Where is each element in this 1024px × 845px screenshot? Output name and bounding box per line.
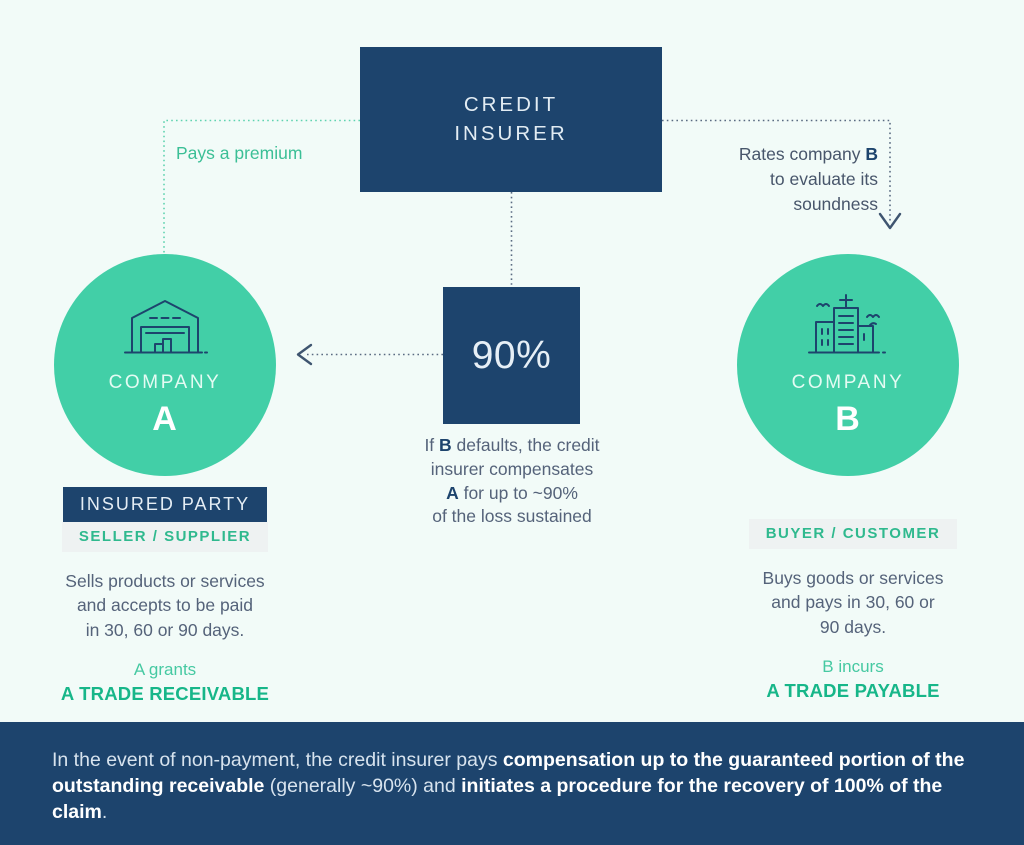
arrowhead-left	[298, 345, 311, 364]
summary-banner-text: In the event of non-payment, the credit …	[52, 748, 972, 826]
rates-line-1: Rates company B	[688, 142, 878, 167]
rates-line-3: soundness	[688, 192, 878, 217]
trade-receivable-label: A TRADE RECEIVABLE	[0, 683, 330, 705]
company-b-desc-line-2: and pays in 30, 60 or	[688, 590, 1018, 614]
caption-line-1: If B defaults, the credit	[351, 434, 673, 458]
insurer-line-2: INSURER	[454, 120, 567, 148]
company-b-desc-line-3: 90 days.	[688, 615, 1018, 639]
rates-company-label: Rates company B to evaluate its soundnes…	[688, 142, 878, 217]
credit-insurer-title: CREDIT INSURER	[454, 91, 567, 148]
company-a-desc-line-1: Sells products or services	[0, 569, 330, 593]
company-a-description: Sells products or services and accepts t…	[0, 569, 330, 642]
city-buildings-icon	[803, 292, 893, 358]
company-a-letter: A	[152, 400, 178, 439]
company-a-desc-line-3: in 30, 60 or 90 days.	[0, 618, 330, 642]
company-a-details: INSURED PARTY SELLER / SUPPLIER Sells pr…	[0, 487, 330, 705]
banner-seg-5: .	[102, 801, 107, 823]
coverage-percent-box: 90%	[443, 287, 580, 424]
pays-premium-label: Pays a premium	[176, 141, 366, 166]
company-b-description: Buys goods or services and pays in 30, 6…	[688, 566, 1018, 639]
caption-line-2: insurer compensates	[351, 458, 673, 482]
insured-party-tag-wrap: INSURED PARTY	[0, 487, 330, 523]
company-a-circle: COMPANY A	[54, 254, 276, 476]
credit-insurer-box: CREDIT INSURER	[360, 47, 662, 192]
coverage-percent-caption: If B defaults, the credit insurer compen…	[351, 434, 673, 529]
summary-banner: In the event of non-payment, the credit …	[0, 722, 1024, 845]
company-a-grants-label: A grants	[0, 659, 330, 681]
buyer-customer-tag: BUYER / CUSTOMER	[749, 519, 958, 549]
company-b-details: BUYER / CUSTOMER Buys goods or services …	[688, 519, 1018, 702]
coverage-percent-value: 90%	[472, 334, 552, 378]
seller-supplier-tag: SELLER / SUPPLIER	[62, 522, 268, 552]
insurer-line-1: CREDIT	[454, 91, 567, 119]
trade-payable-label: A TRADE PAYABLE	[688, 680, 1018, 702]
warehouse-icon	[122, 292, 208, 358]
company-b-incurs-label: B incurs	[688, 656, 1018, 678]
company-b-circle: COMPANY B	[737, 254, 959, 476]
company-a-desc-line-2: and accepts to be paid	[0, 593, 330, 617]
caption-line-4: of the loss sustained	[351, 505, 673, 529]
company-b-letter: B	[835, 400, 861, 439]
buyer-customer-tag-wrap: BUYER / CUSTOMER	[688, 519, 1018, 549]
banner-seg-1: In the event of non-payment, the credit …	[52, 749, 503, 771]
diagram-canvas: CREDIT INSURER Pays a premium Rates comp…	[0, 0, 1024, 845]
banner-seg-3: (generally ~90%) and	[264, 775, 461, 797]
seller-supplier-tag-wrap: SELLER / SUPPLIER	[0, 522, 330, 552]
company-b-desc-line-1: Buys goods or services	[688, 566, 1018, 590]
insured-party-tag: INSURED PARTY	[63, 487, 267, 523]
rates-line-2: to evaluate its	[688, 167, 878, 192]
company-a-word: COMPANY	[109, 372, 222, 394]
arrowhead-down	[880, 214, 900, 228]
company-b-word: COMPANY	[792, 372, 905, 394]
caption-line-3: A for up to ~90%	[351, 482, 673, 506]
